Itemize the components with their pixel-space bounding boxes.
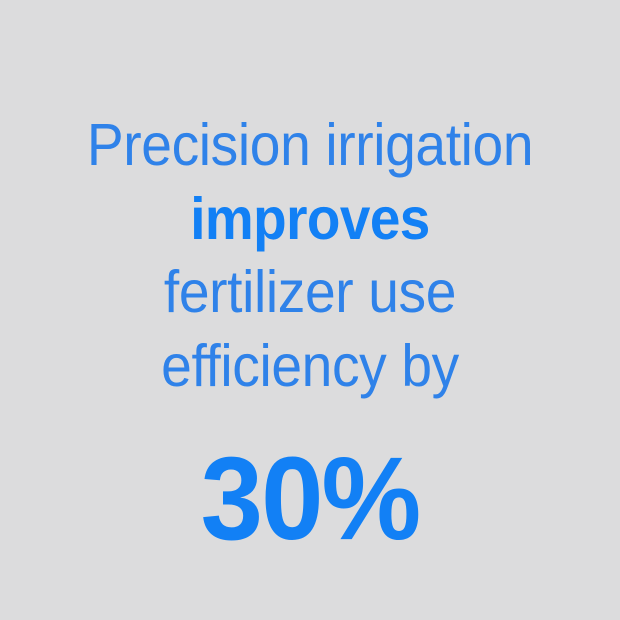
headline-line-1: Precision irrigation (20, 116, 600, 175)
headline-emphasis-word: improves (22, 190, 599, 249)
statistic-value: 30% (16, 440, 605, 558)
headline-block: Precision irrigation improves fertilizer… (0, 0, 620, 396)
stat-card: Precision irrigation improves fertilizer… (0, 0, 620, 620)
headline-line-3: fertilizer use (20, 263, 600, 322)
headline-line-4: efficiency by (20, 337, 600, 396)
